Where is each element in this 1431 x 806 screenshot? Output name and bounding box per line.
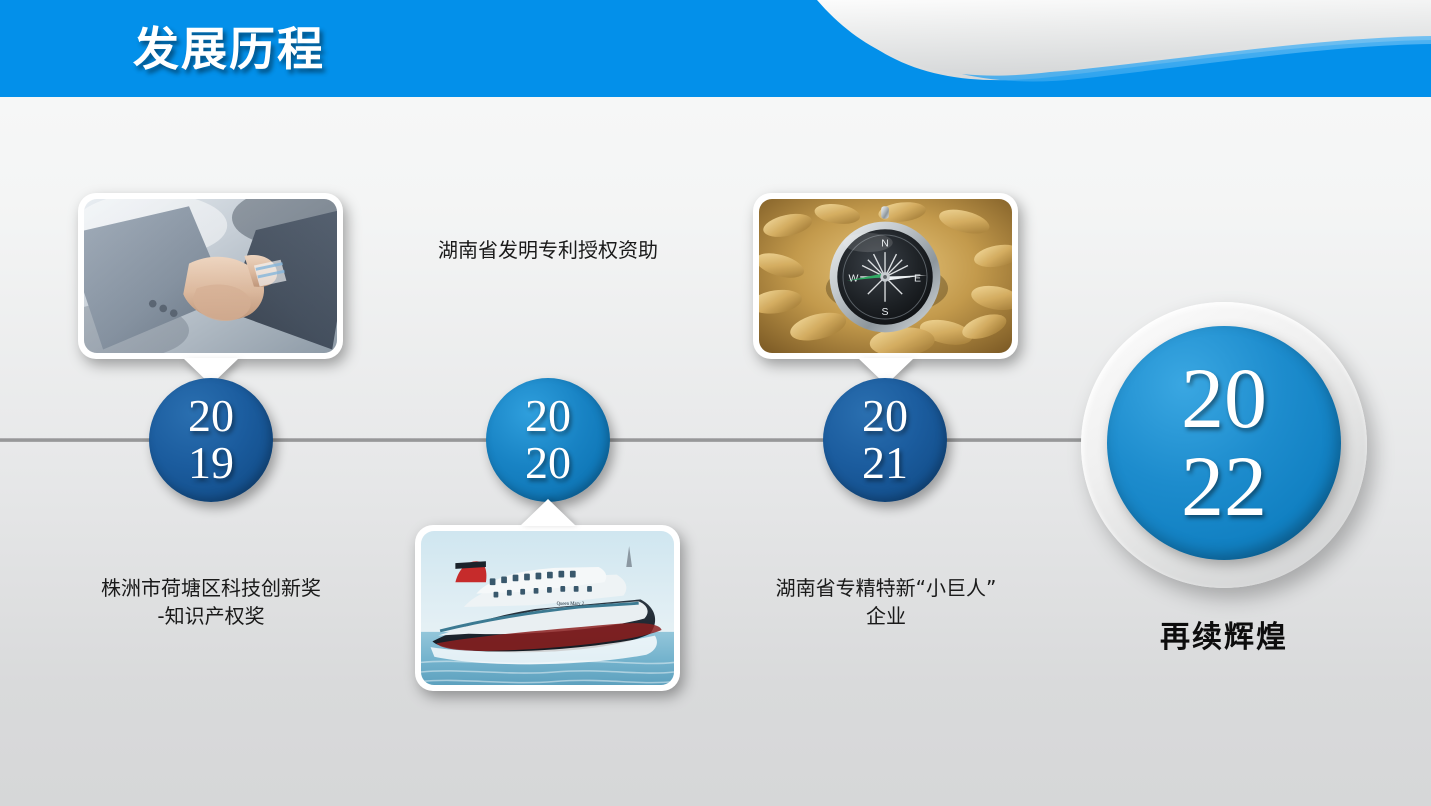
year-top-2020: 20	[525, 393, 571, 440]
year-top-2019: 20	[188, 393, 234, 440]
callout-tail-2020	[520, 499, 576, 526]
year-node-2022[interactable]: 20 22	[1107, 326, 1341, 560]
year-node-2021[interactable]: 20 21	[823, 378, 947, 502]
milestone-caption-2021: 湖南省专精特新“小巨人” 企业	[736, 574, 1036, 631]
year-node-2019[interactable]: 20 19	[149, 378, 273, 502]
handshake-photo	[84, 199, 337, 353]
year-bottom-2019: 19	[188, 440, 234, 487]
compass-on-coins-photo: N S E W	[759, 199, 1012, 353]
year-bottom-2022: 22	[1181, 443, 1267, 531]
header-banner: 发展历程	[0, 0, 1431, 97]
year-top-2022: 20	[1181, 355, 1267, 443]
milestone-photo-2019	[78, 193, 343, 359]
svg-text:Queen Mary 2: Queen Mary 2	[557, 602, 585, 607]
milestone-photo-2020: Queen Mary 2	[415, 525, 680, 691]
year-node-2022-wrapper[interactable]: 20 22	[1081, 302, 1367, 588]
milestone-caption-2022: 再续辉煌	[1084, 612, 1364, 656]
svg-text:S: S	[882, 306, 889, 318]
year-node-2020[interactable]: 20 20	[486, 378, 610, 502]
cruise-ship-photo: Queen Mary 2	[421, 531, 674, 685]
year-top-2021: 20	[862, 393, 908, 440]
page-title: 发展历程	[133, 13, 325, 79]
slide-canvas: 发展历程	[0, 0, 1431, 806]
svg-text:E: E	[914, 273, 921, 285]
svg-text:W: W	[849, 273, 859, 285]
year-bottom-2021: 21	[862, 440, 908, 487]
milestone-caption-2019: 株洲市荷塘区科技创新奖 -知识产权奖	[61, 574, 361, 631]
milestone-photo-2021: N S E W	[753, 193, 1018, 359]
milestone-caption-2020: 湖南省发明专利授权资助	[398, 236, 698, 264]
year-bottom-2020: 20	[525, 440, 571, 487]
